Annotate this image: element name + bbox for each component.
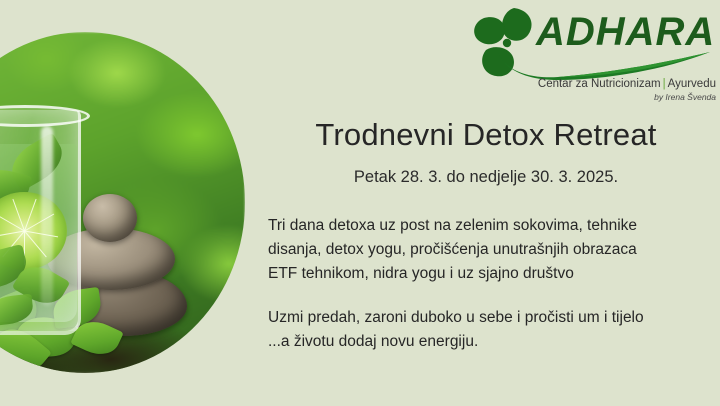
stone-top — [83, 194, 137, 242]
glass-highlight — [41, 126, 53, 306]
description-line: Tri dana detoxa uz post na zelenim sokov… — [268, 214, 704, 238]
description-line: disanja, detox yogu, pročišćenja unutraš… — [268, 238, 704, 262]
tagline-left: Centar za Nutricionizam — [538, 78, 661, 90]
detox-retreat-poster: ADHARA Centar za Nutricionizam|Ayurvedu … — [0, 0, 720, 406]
logo-tagline: Centar za Nutricionizam|Ayurvedu — [518, 78, 716, 90]
lime-mint-water-photo — [0, 32, 245, 373]
tagline-separator: | — [661, 78, 668, 90]
paragraph-spacer — [268, 286, 704, 306]
description-line: ...a životu dodaj novu energiju. — [268, 330, 704, 354]
logo-byline: by Irena Švenda — [518, 92, 716, 102]
tagline-right: Ayurvedu — [668, 78, 716, 90]
logo-wordmark: ADHARA — [536, 10, 715, 55]
description-block: Tri dana detoxa uz post na zelenim sokov… — [268, 214, 704, 354]
description-line: Uzmi predah, zaroni duboko u sebe i proč… — [268, 306, 704, 330]
description-line: ETF tehnikom, nidra yogu i uz sjajno dru… — [268, 262, 704, 286]
event-date: Petak 28. 3. do nedjelje 30. 3. 2025. — [268, 168, 704, 187]
poster-content: Trodnevni Detox Retreat Petak 28. 3. do … — [268, 118, 704, 354]
page-title: Trodnevni Detox Retreat — [268, 118, 704, 152]
water-glass — [0, 110, 81, 335]
adhara-logo: ADHARA Centar za Nutricionizam|Ayurvedu … — [470, 4, 716, 104]
leaf-swoosh-icon — [496, 50, 714, 80]
